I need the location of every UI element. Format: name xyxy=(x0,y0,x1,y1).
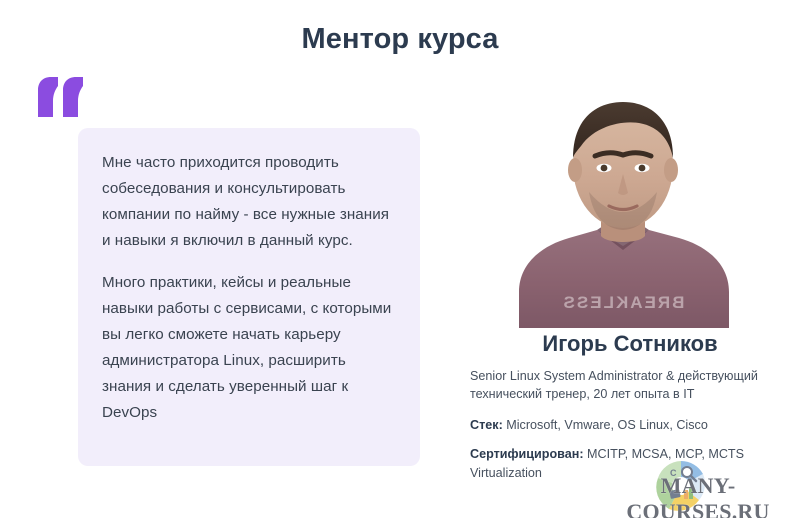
mentor-fact-stack-value: Microsoft, Vmware, OS Linux, Cisco xyxy=(506,418,708,432)
quote-card: Мне часто приходится проводить собеседов… xyxy=(78,128,420,466)
mentor-fact-stack: Стек: Microsoft, Vmware, OS Linux, Cisco xyxy=(470,416,790,435)
mentor-name: Игорь Сотников xyxy=(470,330,790,358)
mentor-fact-certified-label: Сертифицирован: xyxy=(470,447,584,461)
quote-paragraph-1: Мне часто приходится проводить собеседов… xyxy=(102,150,394,255)
double-quote-icon xyxy=(36,76,90,120)
mentor-photo: BREAKLESS xyxy=(497,96,749,328)
svg-text:BREAKLESS: BREAKLESS xyxy=(562,293,685,312)
page-title: Ментор курса xyxy=(0,22,800,57)
watermark-text: MANY-COURSES.RU xyxy=(600,473,796,518)
mentor-fact-stack-label: Стек: xyxy=(470,418,503,432)
watermark: C MANY-COURSES.RU xyxy=(600,460,796,512)
slide-root: Ментор курса Мне часто приходится провод… xyxy=(0,0,800,518)
mentor-role: Senior Linux System Administrator & дейс… xyxy=(470,367,790,404)
quote-paragraph-2: Много практики, кейсы и реальные навыки … xyxy=(102,270,394,427)
